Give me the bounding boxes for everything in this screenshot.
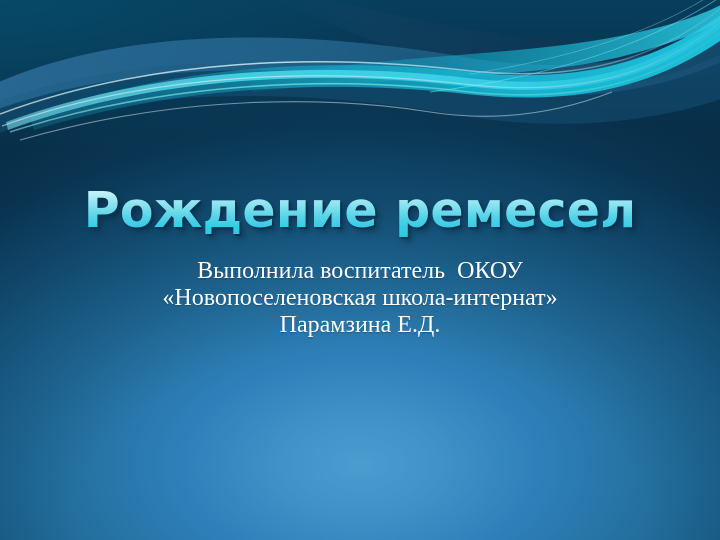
page-title: Рождение ремесел xyxy=(84,186,637,237)
title-slide: Рождение ремесел Выполнила воспитатель О… xyxy=(0,0,720,540)
subtitle-line-1: Выполнила воспитатель ОКОУ xyxy=(46,258,674,285)
slide-content: Рождение ремесел Выполнила воспитатель О… xyxy=(0,0,720,540)
subtitle-line-2: «Новопоселеновская школа-интернат» xyxy=(46,285,674,312)
subtitle-placeholder: Выполнила воспитатель ОКОУ «Новопоселено… xyxy=(46,258,674,339)
title-placeholder: Рождение ремесел xyxy=(40,186,680,237)
subtitle-line-3: Парамзина Е.Д. xyxy=(46,312,674,339)
